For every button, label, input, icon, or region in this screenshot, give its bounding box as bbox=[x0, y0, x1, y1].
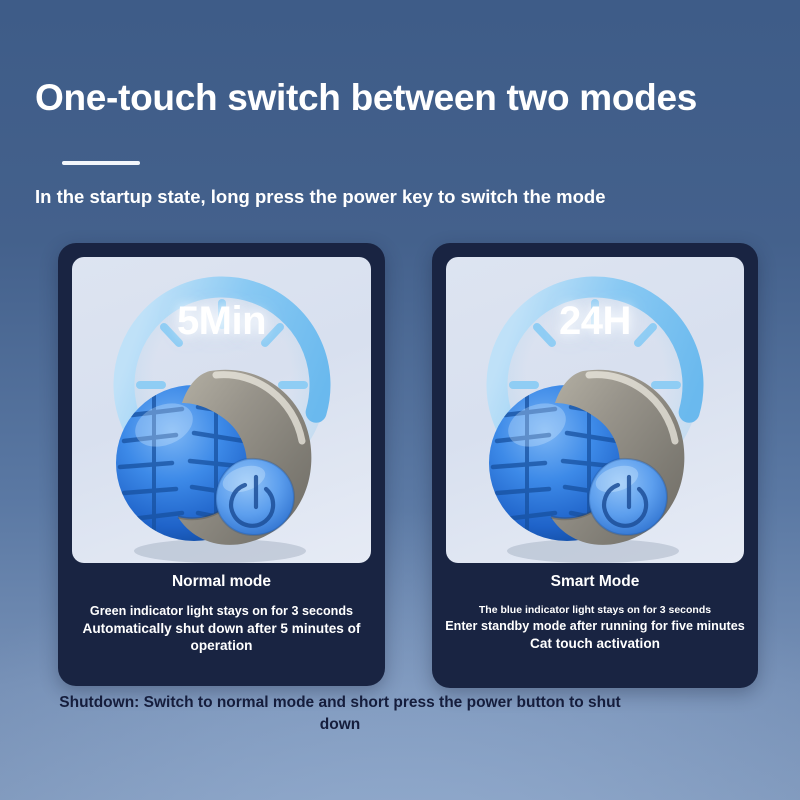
mode-detail-line: Automatically shut down after 5 minutes … bbox=[66, 621, 377, 654]
cat-toy-ball-icon bbox=[471, 337, 719, 563]
mode-name: Smart Mode bbox=[440, 573, 750, 591]
mode-detail-line: Cat touch activation bbox=[440, 636, 750, 653]
infographic-page: One-touch switch between two modes In th… bbox=[0, 0, 800, 800]
mode-detail-line: Enter standby mode after running for fiv… bbox=[440, 619, 750, 634]
page-subtitle: In the startup state, long press the pow… bbox=[35, 186, 606, 208]
mode-detail-line: Green indicator light stays on for 3 sec… bbox=[66, 604, 377, 619]
card-text-smart: Smart Mode The blue indicator light stay… bbox=[440, 573, 750, 655]
mode-detail-line: The blue indicator light stays on for 3 … bbox=[440, 604, 750, 617]
mode-name: Normal mode bbox=[66, 573, 377, 591]
shutdown-note: Shutdown: Switch to normal mode and shor… bbox=[0, 692, 800, 736]
mode-card-normal[interactable]: 5Min bbox=[58, 243, 385, 686]
mode-card-smart[interactable]: 24H bbox=[432, 243, 758, 688]
title-accent-rule bbox=[62, 161, 140, 165]
product-image-panel: 24H bbox=[446, 257, 744, 563]
page-title: One-touch switch between two modes bbox=[35, 77, 697, 119]
card-text-normal: Normal mode Green indicator light stays … bbox=[66, 573, 377, 657]
cat-toy-ball-icon bbox=[98, 337, 346, 563]
product-image-panel: 5Min bbox=[72, 257, 371, 563]
